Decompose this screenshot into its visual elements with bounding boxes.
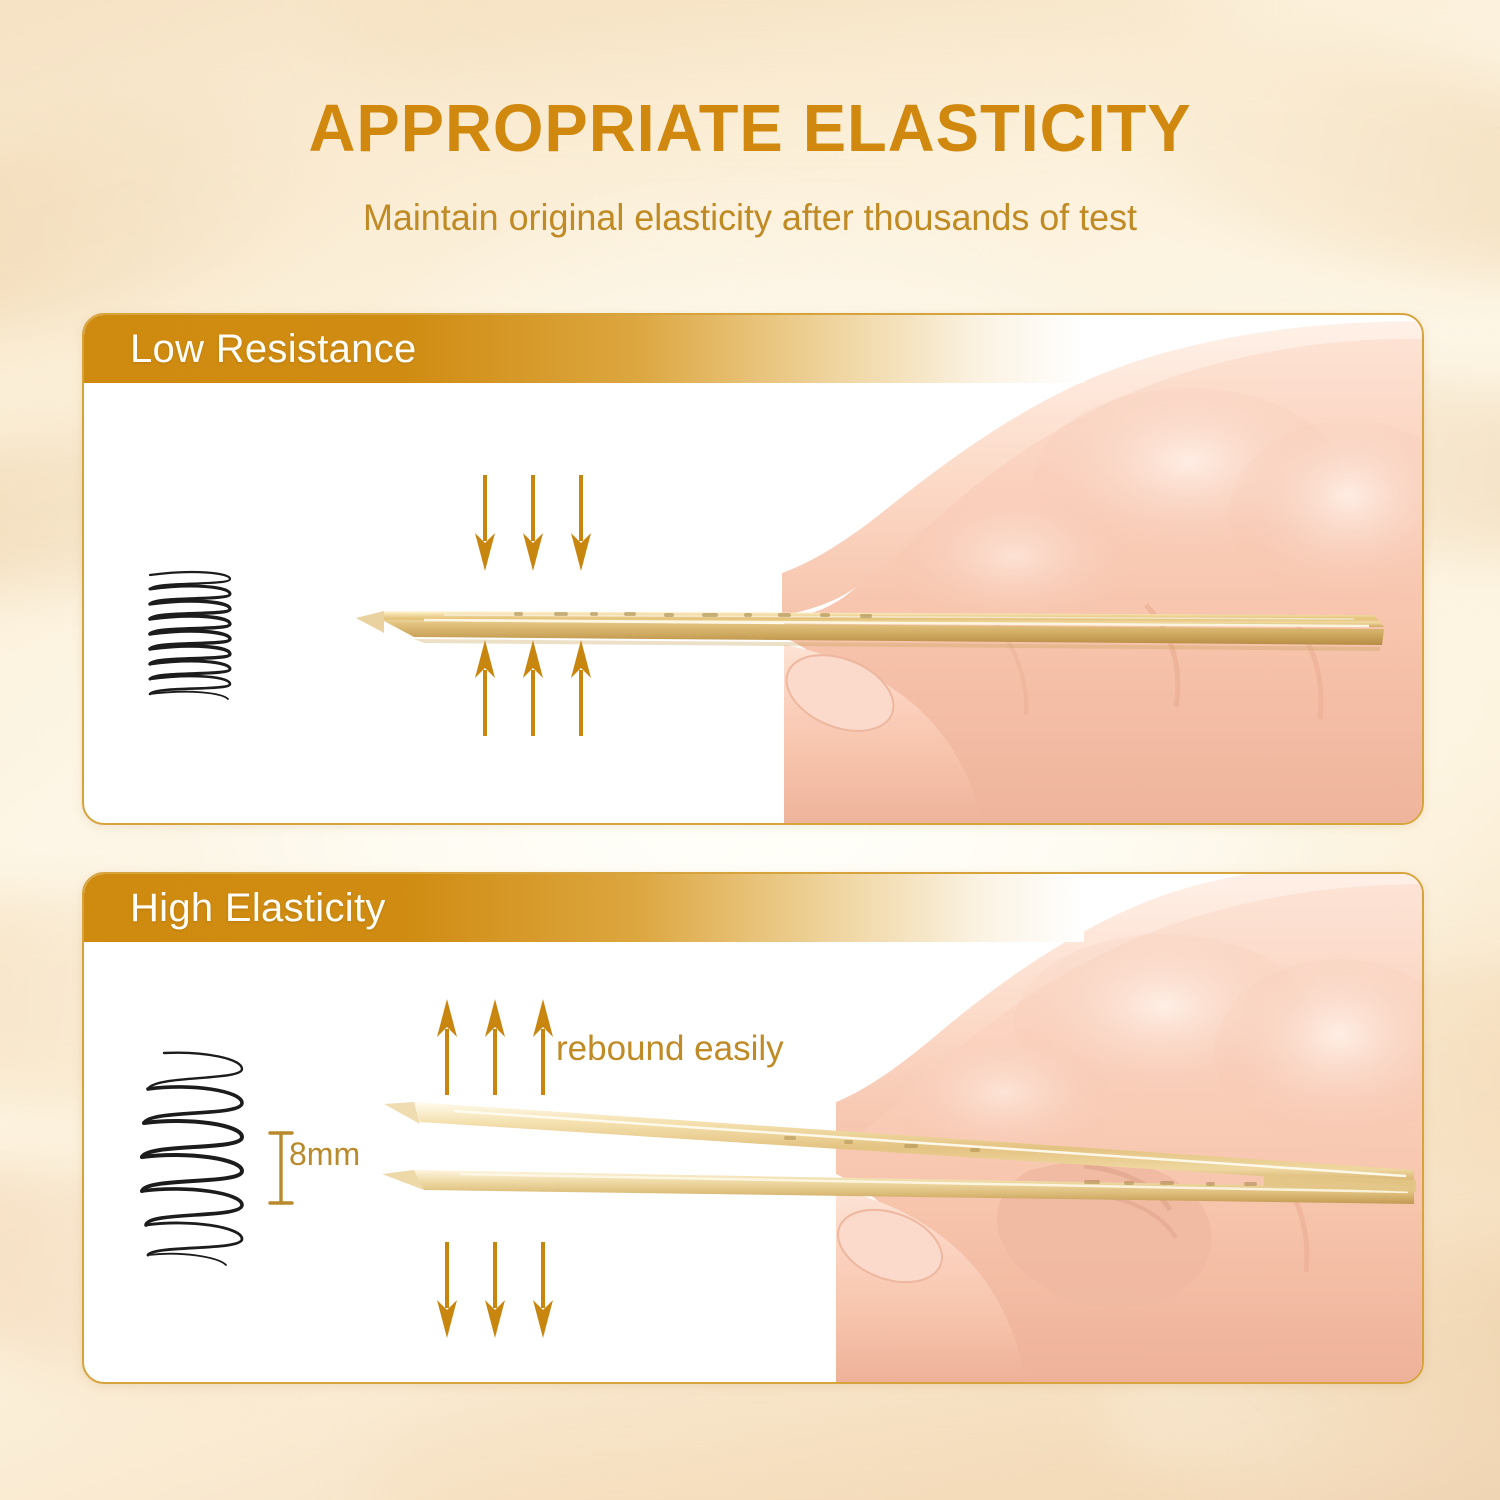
force-arrows-down	[436, 1242, 554, 1338]
page-subtitle: Maintain original elasticity after thous…	[23, 196, 1478, 240]
tweezers-tip	[356, 611, 384, 633]
panel-label: High Elasticity	[130, 886, 386, 931]
rebound-note: rebound easily	[556, 1029, 784, 1069]
panel-header-low-resistance: Low Resistance	[84, 315, 1084, 383]
compressed-spring-icon	[134, 565, 244, 720]
force-arrows-up	[474, 640, 592, 736]
panel-header-high-elasticity: High Elasticity	[84, 874, 1084, 942]
rebound-arrows-up	[436, 999, 554, 1095]
high-elasticity-illustration	[84, 874, 1422, 1382]
gap-dimension-label: 8mm	[289, 1136, 360, 1173]
infographic-canvas: APPROPRIATE ELASTICITY Maintain original…	[0, 0, 1500, 1500]
force-arrows-down	[474, 475, 592, 571]
panel-high-elasticity: rebound easily 8mm High Elasticity	[82, 872, 1424, 1384]
panel-label: Low Resistance	[130, 327, 417, 372]
tweezers-upper-tip	[384, 1102, 420, 1124]
low-resistance-illustration	[84, 315, 1422, 823]
expanded-spring-icon	[114, 1049, 264, 1284]
panel-low-resistance: Low Resistance	[82, 313, 1424, 825]
page-title: APPROPRIATE ELASTICITY	[23, 95, 1478, 162]
